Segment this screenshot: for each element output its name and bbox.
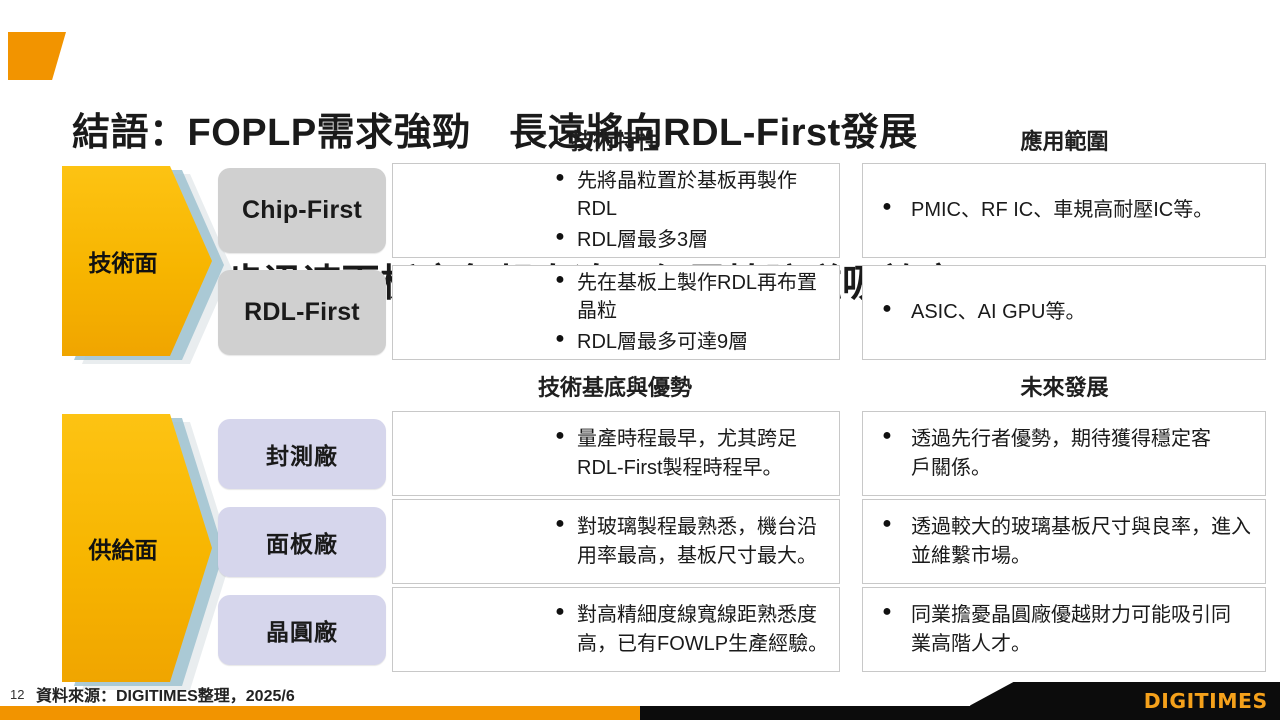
cell-osat-advantages: ● 量產時程最早，尤其跨足RDL-First製程時程早。: [392, 411, 840, 496]
list-item: ● ASIC、AI GPU等。: [863, 298, 1255, 326]
list-item: ● RDL層最多可達9層: [543, 328, 829, 356]
bullet-dot-icon: ●: [543, 513, 577, 536]
title-accent-marker: [8, 32, 66, 80]
cell-rdl-first-features: ● 先在基板上製作RDL再布置晶粒 ● RDL層最多可達9層: [392, 265, 840, 360]
tag-osat: 封測廠: [218, 419, 386, 489]
list-item: ● PMIC、RF IC、車規高耐壓IC等。: [863, 196, 1255, 224]
column-header-future-development: 未來發展: [862, 370, 1267, 402]
cell-panel-maker-future: ● 透過較大的玻璃基板尺寸與良率，進入並維繫市場。: [862, 499, 1266, 584]
column-header-tech-base-advantage: 技術基底與優勢: [390, 370, 840, 402]
list-item: ● 透過先行者優勢，期待獲得穩定客戶關係。: [863, 425, 1229, 482]
list-item: ● 對高精細度線寬線距熟悉度高，已有FOWLP生產經驗。: [543, 601, 829, 658]
bullet-dot-icon: ●: [543, 269, 577, 292]
source-note: 資料來源：DIGITIMES整理，2025/6: [36, 682, 295, 706]
list-item: ● 同業擔憂晶圓廠優越財力可能吸引同業高階人才。: [863, 601, 1245, 658]
bullet-dot-icon: ●: [543, 425, 577, 448]
bullet-text: 透過先行者優勢，期待獲得穩定客戶關係。: [911, 425, 1229, 482]
bullet-text: 先將晶粒置於基板再製作RDL: [577, 167, 829, 224]
cell-osat-future: ● 透過先行者優勢，期待獲得穩定客戶關係。: [862, 411, 1266, 496]
bullet-text: 同業擔憂晶圓廠優越財力可能吸引同業高階人才。: [911, 601, 1245, 658]
arrow-technology-side: 技術面: [62, 166, 212, 356]
tag-panel-maker: 面板廠: [218, 507, 386, 577]
bullet-text: 透過較大的玻璃基板尺寸與良率，進入並維繫市場。: [911, 513, 1255, 570]
bullet-text: RDL層最多3層: [577, 226, 829, 254]
list-item: ● 對玻璃製程最熟悉，機台沿用率最高，基板尺寸最大。: [543, 513, 829, 570]
slide-canvas: 結語：FOPLP需求強勁 長遠將向RDL-First發展 封測廠起步迅速面板廠急…: [0, 0, 1280, 720]
list-item: ● 量產時程最早，尤其跨足RDL-First製程時程早。: [543, 425, 829, 482]
digitimes-logo: DIGITIMES: [970, 682, 1280, 720]
arrow-supply-side: 供給面: [62, 414, 212, 682]
bullet-dot-icon: ●: [543, 601, 577, 624]
cell-chip-first-applications: ● PMIC、RF IC、車規高耐壓IC等。: [862, 163, 1266, 258]
bullet-text: PMIC、RF IC、車規高耐壓IC等。: [911, 196, 1255, 224]
tag-chip-first: Chip-First: [218, 168, 386, 253]
arrow-supply-side-label: 供給面: [62, 531, 170, 565]
cell-chip-first-features: ● 先將晶粒置於基板再製作RDL ● RDL層最多3層: [392, 163, 840, 258]
bullet-text: 量產時程最早，尤其跨足RDL-First製程時程早。: [577, 425, 829, 482]
cell-rdl-first-applications: ● ASIC、AI GPU等。: [862, 265, 1266, 360]
bullet-dot-icon: ●: [543, 328, 577, 351]
list-item: ● 先在基板上製作RDL再布置晶粒: [543, 269, 829, 326]
list-item: ● 透過較大的玻璃基板尺寸與良率，進入並維繫市場。: [863, 513, 1255, 570]
bullet-dot-icon: ●: [863, 425, 911, 448]
bullet-dot-icon: ●: [543, 167, 577, 190]
tag-foundry: 晶圓廠: [218, 595, 386, 665]
digitimes-logo-text: DIGITIMES: [1143, 689, 1267, 713]
cell-foundry-advantages: ● 對高精細度線寬線距熟悉度高，已有FOWLP生產經驗。: [392, 587, 840, 672]
list-item: ● 先將晶粒置於基板再製作RDL: [543, 167, 829, 224]
arrow-technology-side-label: 技術面: [62, 244, 170, 278]
bullet-text: 先在基板上製作RDL再布置晶粒: [577, 269, 829, 326]
tag-rdl-first: RDL-First: [218, 270, 386, 355]
bullet-text: RDL層最多可達9層: [577, 328, 829, 356]
bullet-dot-icon: ●: [863, 298, 911, 321]
bullet-text: ASIC、AI GPU等。: [911, 298, 1255, 326]
bullet-text: 對玻璃製程最熟悉，機台沿用率最高，基板尺寸最大。: [577, 513, 829, 570]
list-item: ● RDL層最多3層: [543, 226, 829, 254]
column-header-application-range: 應用範圍: [862, 124, 1267, 156]
cell-foundry-future: ● 同業擔憂晶圓廠優越財力可能吸引同業高階人才。: [862, 587, 1266, 672]
bullet-dot-icon: ●: [863, 196, 911, 219]
bullet-dot-icon: ●: [863, 601, 911, 624]
page-number: 12: [10, 687, 24, 702]
bullet-dot-icon: ●: [863, 513, 911, 536]
bullet-text: 對高精細度線寬線距熟悉度高，已有FOWLP生產經驗。: [577, 601, 829, 658]
cell-panel-maker-advantages: ● 對玻璃製程最熟悉，機台沿用率最高，基板尺寸最大。: [392, 499, 840, 584]
column-header-tech-characteristics: 技術特性: [390, 124, 840, 156]
footer-bar-orange: [0, 706, 640, 720]
bullet-dot-icon: ●: [543, 226, 577, 249]
